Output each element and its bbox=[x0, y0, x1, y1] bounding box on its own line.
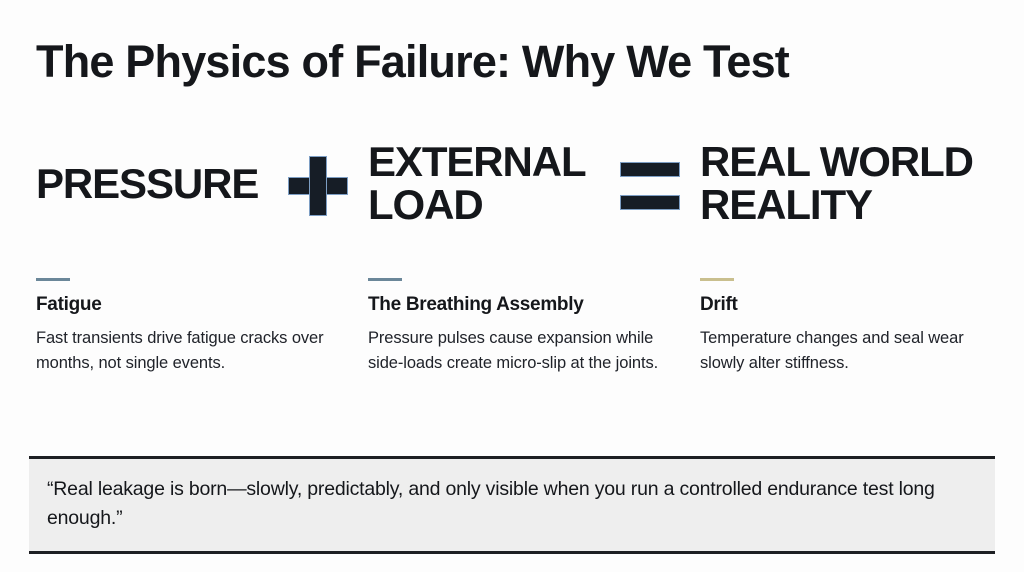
detail-column-drift: Drift Temperature changes and seal wear … bbox=[700, 278, 988, 376]
equation-term-pressure: PRESSURE bbox=[36, 162, 258, 206]
accent-rule bbox=[36, 278, 70, 281]
equation-row: PRESSURE EXTERNAL LOAD REAL WORLD REALIT… bbox=[36, 138, 988, 238]
detail-column-fatigue: Fatigue Fast transients drive fatigue cr… bbox=[36, 278, 368, 376]
accent-rule bbox=[700, 278, 734, 281]
equation-term-external-load-line-2: LOAD bbox=[368, 183, 586, 226]
accent-rule bbox=[368, 278, 402, 281]
detail-column-body: Fast transients drive fatigue cracks ove… bbox=[36, 326, 336, 376]
plus-icon-vertical-bar bbox=[309, 156, 327, 216]
equation-term-real-world-reality-line-1: REAL WORLD bbox=[700, 140, 973, 183]
equation-term-pressure-line-1: PRESSURE bbox=[36, 162, 258, 206]
equals-icon bbox=[620, 162, 680, 210]
quote-text: “Real leakage is born—slowly, predictabl… bbox=[47, 475, 977, 533]
detail-column-heading: Drift bbox=[700, 293, 988, 317]
equation-term-real-world-reality-line-2: REALITY bbox=[700, 183, 973, 226]
plus-icon bbox=[288, 156, 348, 216]
equals-icon-top-bar bbox=[620, 162, 680, 177]
detail-columns: Fatigue Fast transients drive fatigue cr… bbox=[36, 278, 988, 376]
equation-term-real-world-reality: REAL WORLD REALITY bbox=[700, 140, 973, 226]
equals-icon-bottom-bar bbox=[620, 195, 680, 210]
detail-column-body: Pressure pulses cause expansion while si… bbox=[368, 326, 668, 376]
detail-column-heading: The Breathing Assembly bbox=[368, 293, 668, 317]
page-title: The Physics of Failure: Why We Test bbox=[36, 36, 789, 88]
quote-callout: “Real leakage is born—slowly, predictabl… bbox=[29, 456, 995, 554]
detail-column-breathing-assembly: The Breathing Assembly Pressure pulses c… bbox=[368, 278, 700, 376]
infographic-page: The Physics of Failure: Why We Test PRES… bbox=[0, 0, 1024, 572]
detail-column-heading: Fatigue bbox=[36, 293, 336, 317]
equation-term-external-load-line-1: EXTERNAL bbox=[368, 140, 586, 183]
detail-column-body: Temperature changes and seal wear slowly… bbox=[700, 326, 988, 376]
equation-term-external-load: EXTERNAL LOAD bbox=[368, 140, 586, 226]
